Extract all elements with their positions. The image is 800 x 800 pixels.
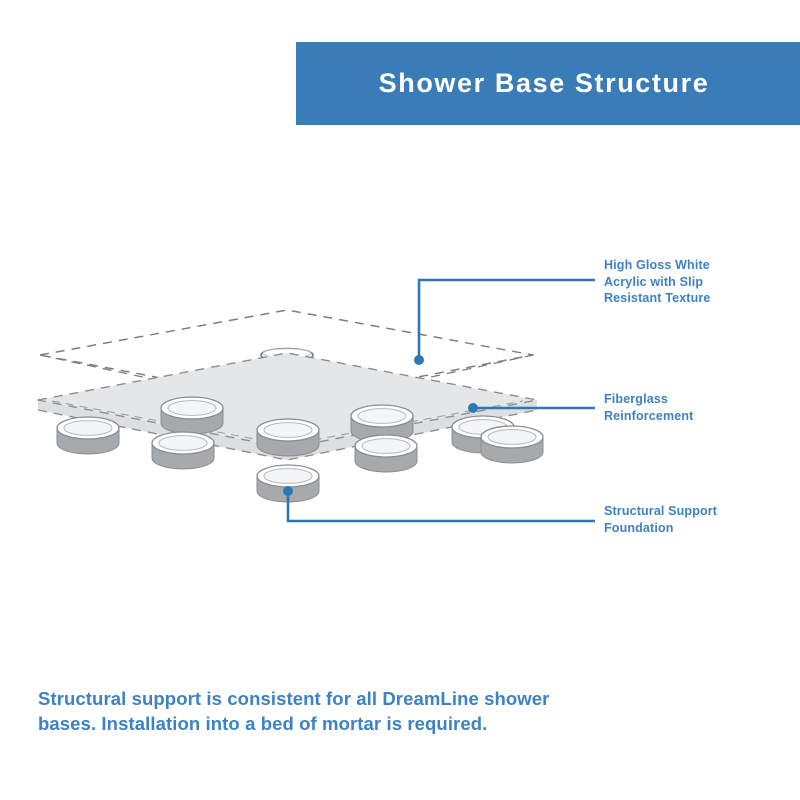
callout-label-fiberglass: Fiberglass Reinforcement <box>604 391 693 424</box>
leader-dot-fiberglass <box>468 403 478 413</box>
leader-line-acrylic <box>419 280 595 360</box>
callout-label-acrylic: High Gloss White Acrylic with Slip Resis… <box>604 257 711 307</box>
diagram-page: Shower Base Structure <box>0 0 800 800</box>
support-ring <box>355 435 417 472</box>
page-title: Shower Base Structure <box>379 68 718 99</box>
leader-line-support <box>288 491 595 521</box>
support-ring <box>57 417 119 454</box>
leader-dot-acrylic <box>414 355 424 365</box>
support-ring <box>481 426 543 463</box>
header-banner: Shower Base Structure <box>296 42 800 125</box>
callout-label-support: Structural Support Foundation <box>604 503 717 536</box>
footer-caption: Structural support is consistent for all… <box>38 686 558 736</box>
support-ring <box>257 419 319 456</box>
support-ring <box>161 397 223 434</box>
support-ring <box>152 432 214 469</box>
leader-dot-support <box>283 486 293 496</box>
